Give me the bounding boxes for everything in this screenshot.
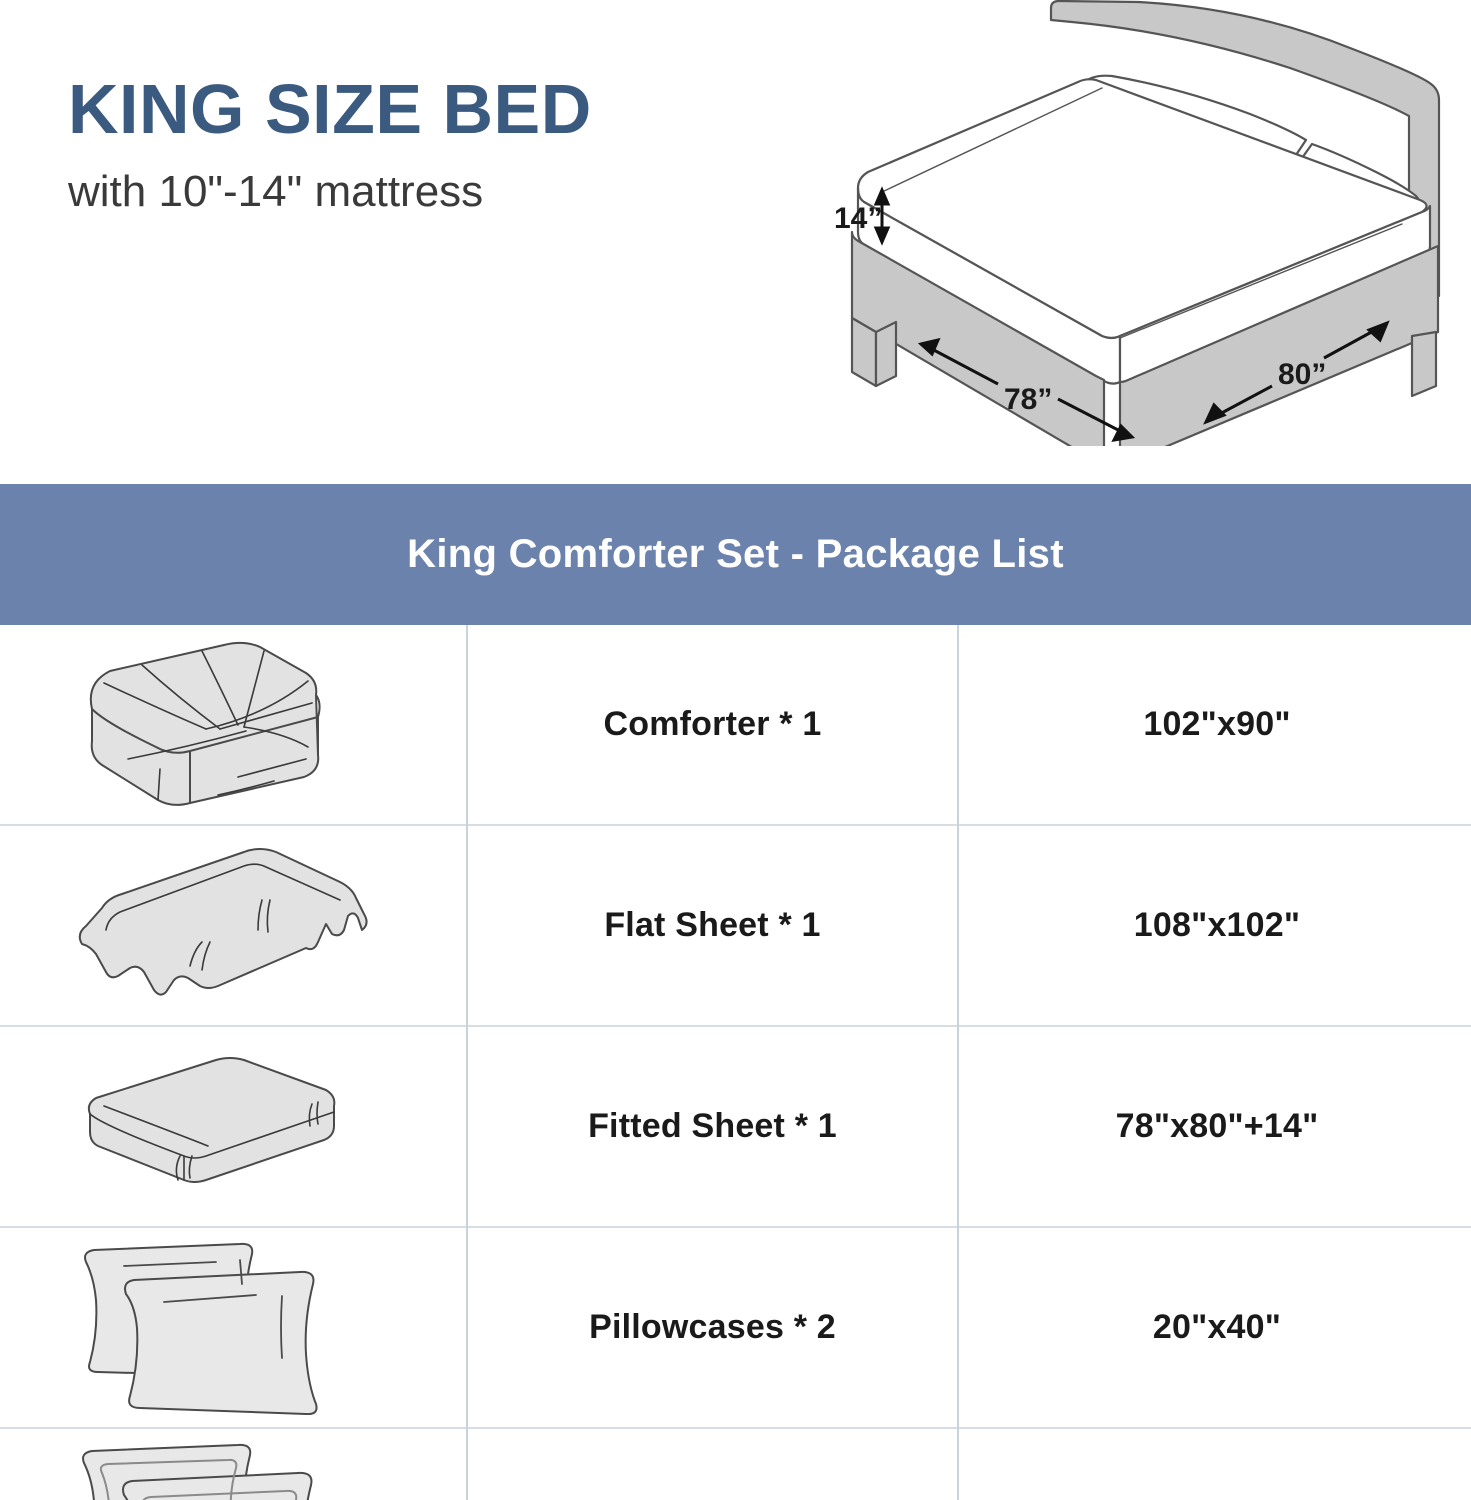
row-size-cell: 108"x102" xyxy=(958,825,1471,1026)
row-icon-cell xyxy=(0,1428,467,1500)
leg-left-inner xyxy=(876,322,896,386)
row-icon-cell xyxy=(0,1227,467,1428)
title-block: KING SIZE BED with 10"-14" mattress xyxy=(68,72,848,217)
row-item-cell: Comforter * 1 xyxy=(467,625,958,825)
size-label: 20"x40" xyxy=(959,1308,1471,1347)
table-row: Pillowcases * 2 20"x40" xyxy=(0,1227,1471,1428)
flat-sheet-icon xyxy=(68,838,398,1013)
size-label: 108"x102" xyxy=(959,906,1471,945)
row-icon-cell xyxy=(0,825,467,1026)
height-dimension-label: 14” xyxy=(834,202,882,235)
hero-section: KING SIZE BED with 10"-14" mattress xyxy=(0,0,1471,470)
row-size-cell: 102"x90" xyxy=(958,625,1471,825)
package-rows: Comforter * 1 102"x90" xyxy=(0,625,1471,1500)
row-icon-cell xyxy=(0,625,467,825)
row-item-cell: Flat Sheet * 1 xyxy=(467,825,958,1026)
row-item-cell: Pillowcases * 2 xyxy=(467,1227,958,1428)
table-row: Comforter * 1 102"x90" xyxy=(0,625,1471,825)
table-row: Pillow Shams * 2 20"x36"+2" xyxy=(0,1428,1471,1500)
infographic-page: KING SIZE BED with 10"-14" mattress xyxy=(0,0,1471,1500)
row-item-cell: Fitted Sheet * 1 xyxy=(467,1026,958,1227)
page-title: KING SIZE BED xyxy=(68,72,848,146)
row-size-cell: 78"x80"+14" xyxy=(958,1026,1471,1227)
pillowcases-icon xyxy=(68,1240,398,1415)
row-item-cell: Pillow Shams * 2 xyxy=(467,1428,958,1500)
row-size-cell: 20"x36"+2" xyxy=(958,1428,1471,1500)
item-label: Pillowcases * 2 xyxy=(468,1308,957,1347)
size-label: 78"x80"+14" xyxy=(959,1107,1471,1146)
width-dimension-label: 78” xyxy=(1004,383,1052,416)
item-label: Comforter * 1 xyxy=(468,705,957,744)
page-subtitle: with 10"-14" mattress xyxy=(68,168,848,216)
item-label: Fitted Sheet * 1 xyxy=(468,1107,957,1146)
item-label: Flat Sheet * 1 xyxy=(468,906,957,945)
pillow-shams-icon xyxy=(68,1441,398,1500)
leg-right xyxy=(1412,332,1436,396)
table-header: King Comforter Set - Package List xyxy=(0,484,1471,625)
row-size-cell: 20"x40" xyxy=(958,1227,1471,1428)
package-list-table: King Comforter Set - Package List xyxy=(0,484,1471,1500)
table-row: Fitted Sheet * 1 78"x80"+14" xyxy=(0,1026,1471,1227)
fitted-sheet-icon xyxy=(68,1052,398,1202)
table-header-title: King Comforter Set - Package List xyxy=(407,532,1064,577)
table-row: Flat Sheet * 1 108"x102" xyxy=(0,825,1471,1026)
row-icon-cell xyxy=(0,1026,467,1227)
size-label: 102"x90" xyxy=(959,705,1471,744)
folded-comforter-icon xyxy=(68,637,398,812)
depth-dimension-label: 80” xyxy=(1278,358,1326,391)
king-bed-dimension-diagram: 14” 78” 80” xyxy=(820,0,1471,446)
